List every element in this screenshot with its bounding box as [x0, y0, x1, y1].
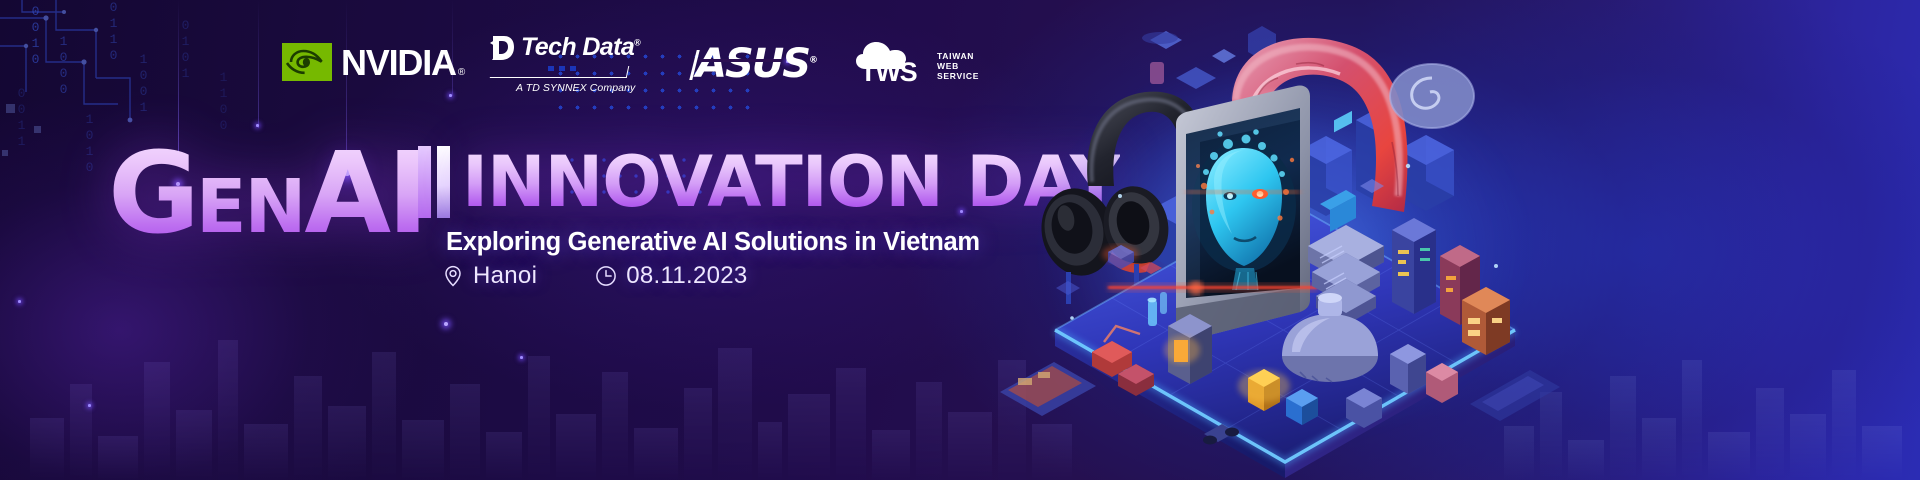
tws-tagline-line3: SERVICE [937, 71, 979, 81]
event-date-label: 08.11.2023 [626, 262, 747, 290]
page-title-genai: GENAI [108, 138, 425, 250]
page-subtitle: Exploring Generative AI Solutions in Vie… [446, 228, 980, 257]
techdata-tagline: A TD SYNNEX Company [516, 82, 635, 94]
nvidia-trademark: ® [458, 67, 464, 78]
asus-trademark: ® [809, 56, 816, 66]
asus-wordmark: ASUS® [696, 41, 816, 87]
tws-tagline: TAIWAN WEB SERVICE [937, 51, 979, 86]
title-divider-bar-2 [437, 146, 450, 218]
logo-techdata[interactable]: Tech Data® A TD SYNNEX Company [490, 34, 640, 61]
city-skyline-decoration-right [1500, 330, 1920, 480]
genai-g: G [108, 129, 196, 259]
techdata-trademark: ® [634, 38, 640, 48]
genai-en: EN [196, 164, 304, 250]
genai-innovation-day-banner: 0010 1000 0110 1001 0101 1010 0011 1100 [0, 0, 1920, 480]
nvidia-eye-icon [282, 43, 332, 81]
logo-nvidia[interactable]: NVIDIA® [282, 43, 462, 81]
partner-logo-row: NVIDIA® Tech Data® A TD SYNNEX Company A… [282, 34, 979, 86]
title-divider-bar-1 [418, 146, 431, 218]
techdata-d-glyph-icon [490, 34, 515, 61]
tws-wordmark: TWS [860, 59, 916, 86]
city-skyline-decoration [0, 290, 1100, 480]
event-meta-row: Hanoi 08.11.2023 [442, 262, 748, 290]
logo-tws[interactable]: TWS TAIWAN WEB SERVICE [856, 40, 979, 86]
techdata-wordmark: Tech Data® [521, 35, 640, 60]
tws-tagline-line1: TAIWAN [937, 51, 979, 61]
nvidia-wordmark: NVIDIA® [341, 45, 462, 81]
isometric-ai-tech-city-illustration [1000, 0, 1560, 480]
event-location-label: Hanoi [473, 262, 537, 290]
event-date: 08.11.2023 [595, 262, 747, 290]
clock-icon [595, 265, 617, 287]
logo-asus[interactable]: ASUS® [696, 44, 816, 84]
tws-tagline-line2: WEB [937, 61, 979, 71]
map-pin-icon [442, 265, 464, 287]
event-location: Hanoi [442, 262, 537, 290]
genai-ai: AI [304, 129, 424, 259]
techdata-dots [548, 66, 576, 71]
asus-cut-mark [698, 59, 783, 62]
